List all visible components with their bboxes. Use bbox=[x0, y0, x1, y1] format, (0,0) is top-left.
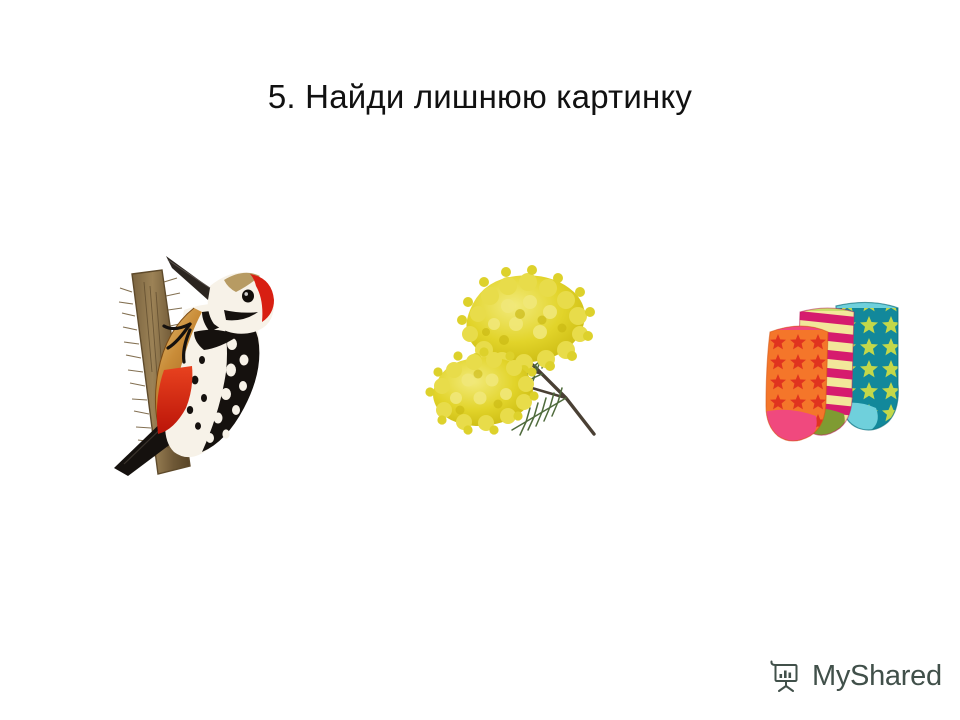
slide-canvas: 5. Найди лишнюю картинку bbox=[0, 0, 960, 720]
three-colorful-socks-photo bbox=[748, 292, 928, 454]
woodpecker-on-trunk-illustration bbox=[98, 252, 298, 484]
picture-woodpecker[interactable] bbox=[98, 252, 298, 484]
watermark: MyShared bbox=[768, 648, 944, 704]
watermark-label: MyShared bbox=[812, 662, 942, 691]
page-title: 5. Найди лишнюю картинку bbox=[0, 78, 960, 116]
picture-socks[interactable] bbox=[748, 292, 928, 454]
mimosa-branch-illustration bbox=[416, 262, 628, 448]
flipchart-chart-icon bbox=[768, 658, 804, 694]
picture-mimosa[interactable] bbox=[416, 262, 628, 448]
